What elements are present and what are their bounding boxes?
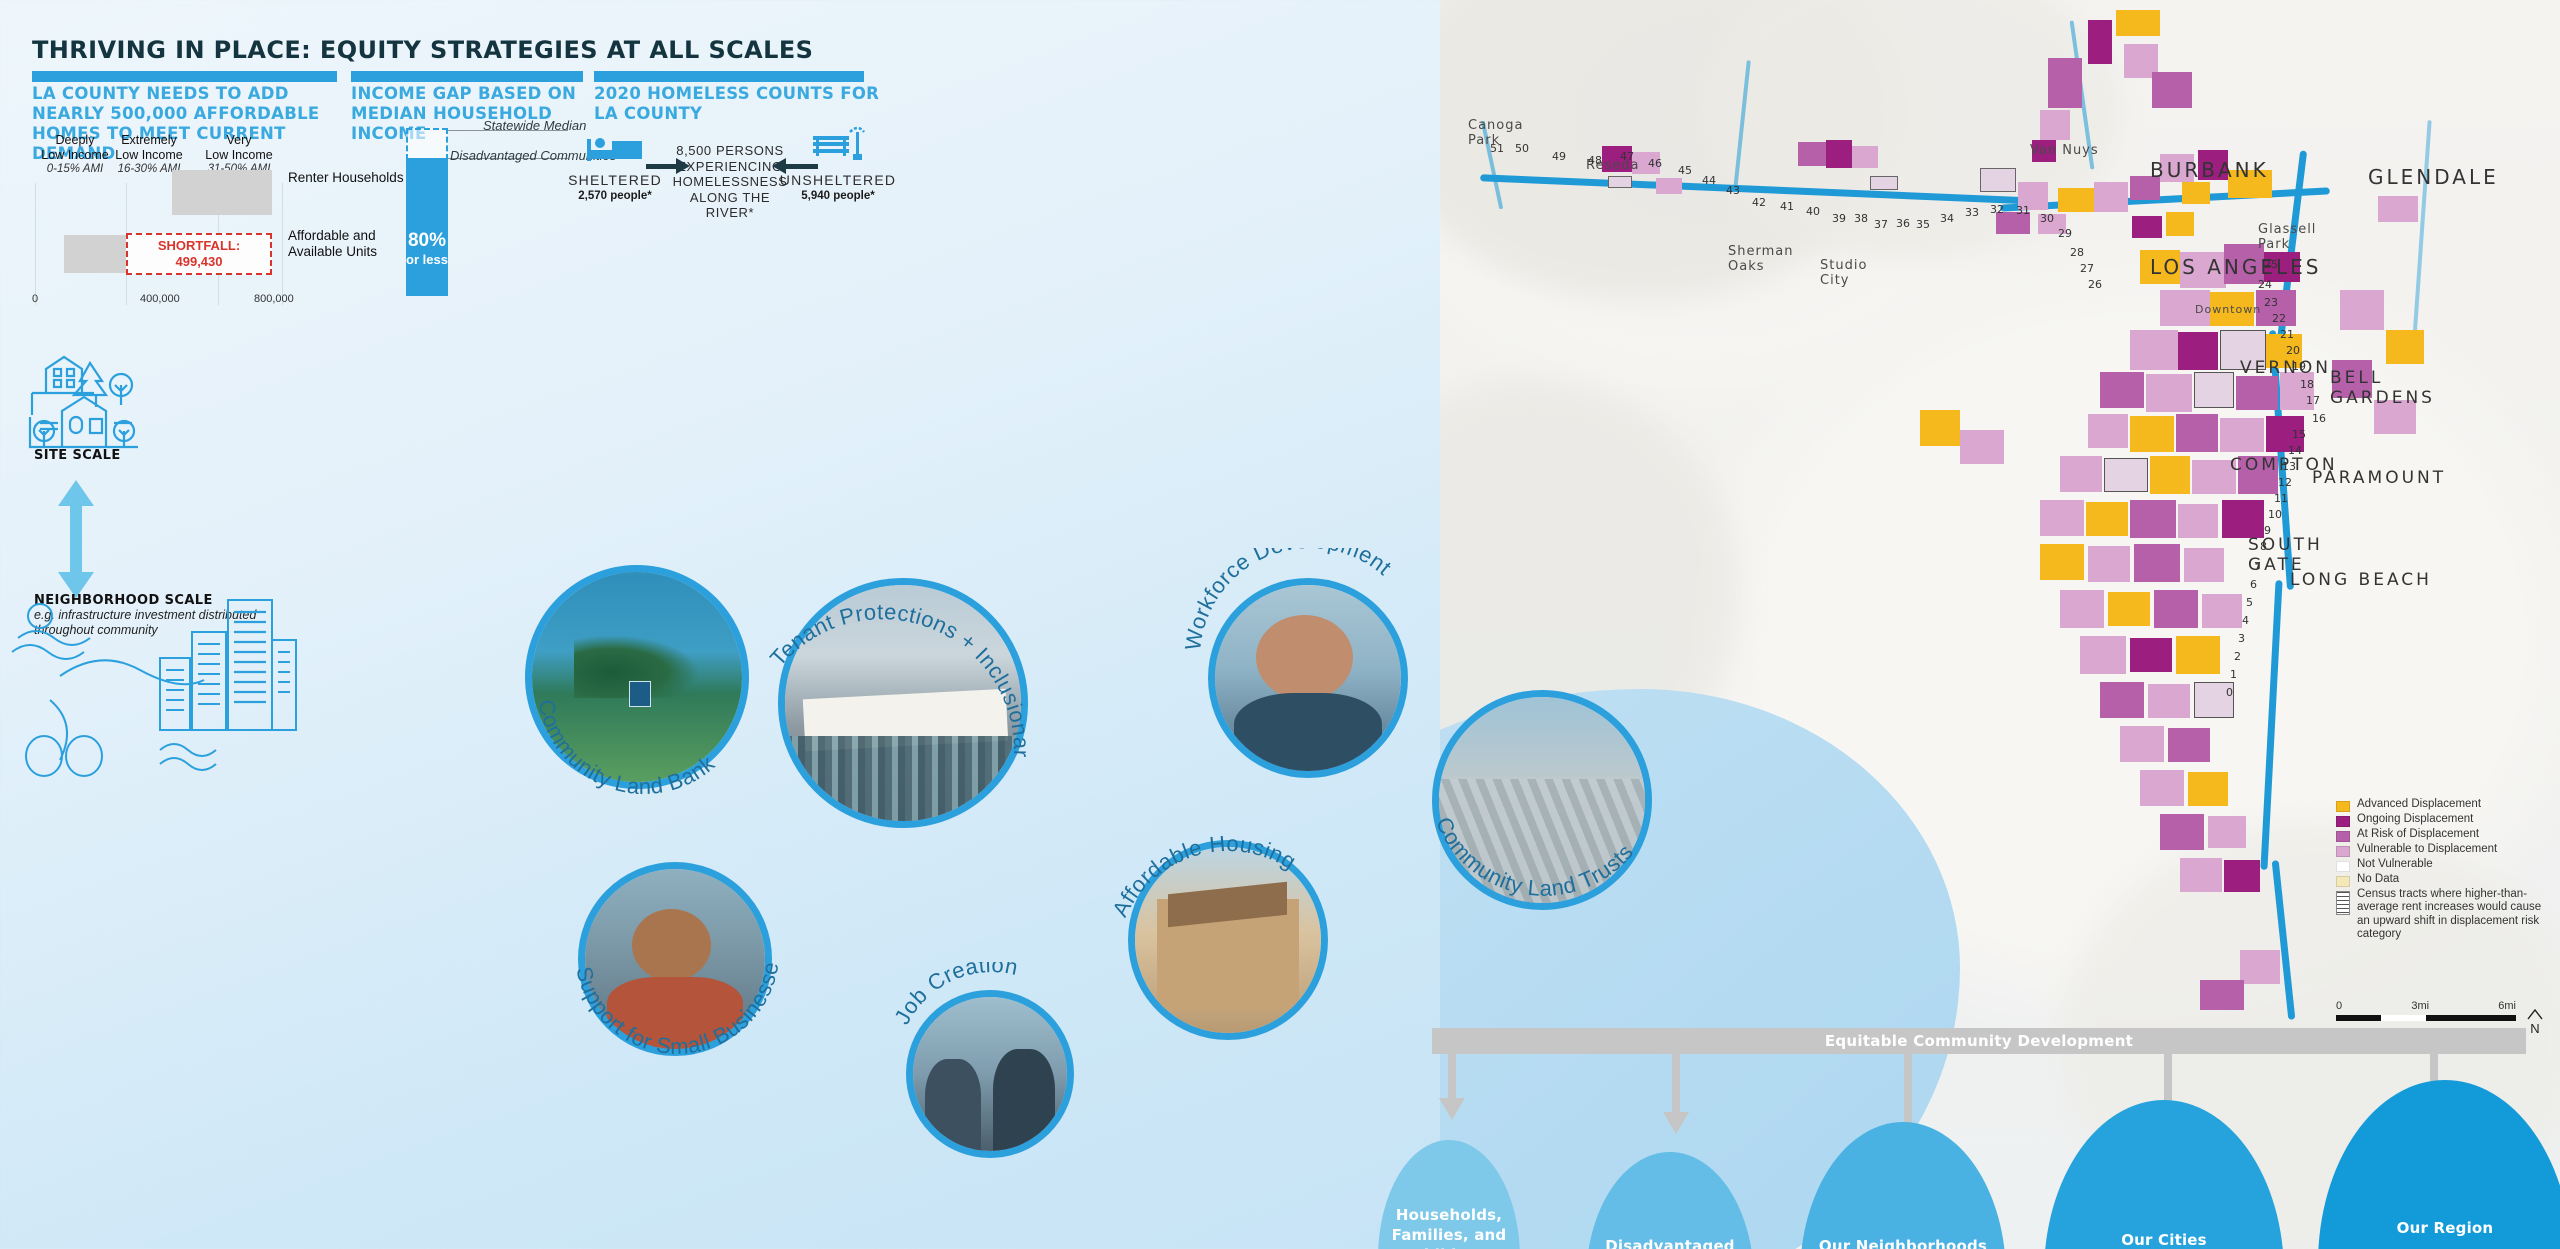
map-mile-marker: 13 xyxy=(2282,460,2296,473)
map-mile-marker: 31 xyxy=(2016,204,2030,217)
legend-item: Advanced Displacement xyxy=(2336,798,2551,812)
panel-heading-homeless: 2020 HOMELESS COUNTS FOR LA COUNTY xyxy=(594,84,894,124)
tract-vulnerable xyxy=(2378,196,2418,222)
panel-rule-income xyxy=(351,71,583,82)
river-tributary xyxy=(2412,120,2431,340)
tract-advanced xyxy=(2150,456,2190,494)
legend-item: Vulnerable to Displacement xyxy=(2336,843,2551,857)
axis-tick-800000: 800,000 xyxy=(254,293,294,305)
photo-crowd xyxy=(785,736,1021,821)
map-mile-marker: 36 xyxy=(1896,217,1910,230)
tract-vulnerable xyxy=(2148,684,2190,718)
scalebar-tick-6mi: 6mi xyxy=(2498,1000,2516,1012)
bar-affordable-available-units xyxy=(64,235,126,273)
funnel-node-label: Our Region xyxy=(2397,1218,2494,1238)
bed-icon xyxy=(586,134,644,164)
map-mile-marker: 11 xyxy=(2274,492,2288,505)
map-mile-marker: 4 xyxy=(2242,614,2249,627)
tract-ongoing xyxy=(2130,638,2172,672)
map-mile-marker: 9 xyxy=(2264,524,2271,537)
legend-item: Ongoing Displacement xyxy=(2336,813,2551,827)
tract-vulnerable xyxy=(2120,726,2164,762)
legend-swatch-ongoing-displacement xyxy=(2336,816,2350,827)
tract-vulnerable xyxy=(2140,770,2184,806)
funnel-node-label: Our Neighborhoods xyxy=(1819,1236,1987,1249)
map-mile-marker: 50 xyxy=(1515,142,1529,155)
map-mile-marker: 2 xyxy=(2234,650,2241,663)
photo-person-b xyxy=(993,1049,1055,1151)
map-mile-marker: 23 xyxy=(2264,296,2278,309)
map-label-studio-city: StudioCity xyxy=(1820,258,1867,288)
axis-tick-0: 0 xyxy=(32,293,38,305)
map-mile-marker: 37 xyxy=(1874,218,1888,231)
tract-atrisk xyxy=(2154,590,2198,628)
housing-shortfall-chart: DeeplyLow Income 0-15% AMI ExtremelyLow … xyxy=(32,125,332,310)
tract-vulnerable xyxy=(2130,330,2178,370)
tract-ongoing xyxy=(2222,500,2264,538)
map-mile-marker: 38 xyxy=(1854,212,1868,225)
tract-atrisk xyxy=(2134,544,2180,582)
legend-item: Not Vulnerable xyxy=(2336,858,2551,872)
map-mile-marker: 0 xyxy=(2226,686,2233,699)
arrow-head-left xyxy=(772,158,786,174)
displacement-map[interactable]: CanogaPark Reseda ShermanOaks StudioCity… xyxy=(1440,0,2560,1249)
map-mile-marker: 30 xyxy=(2040,212,2054,225)
map-mile-marker: 44 xyxy=(1702,174,1716,187)
map-mile-marker: 19 xyxy=(2292,360,2306,373)
income-gap-bar: 80% or less xyxy=(406,158,448,296)
strategy-bubble-job-creation[interactable] xyxy=(906,990,1074,1158)
map-mile-marker: 41 xyxy=(1780,200,1794,213)
map-label-paramount: PARAMOUNT xyxy=(2312,468,2446,488)
north-label: N xyxy=(2527,1021,2543,1036)
tract-advanced xyxy=(2182,182,2210,204)
legend-swatch-no-data xyxy=(2336,876,2350,887)
panel-rule-homeless xyxy=(594,71,864,82)
map-label-downtown: Downtown xyxy=(2195,303,2261,316)
arrow-unsheltered-to-center xyxy=(786,164,818,169)
map-mile-marker: 26 xyxy=(2088,278,2102,291)
axis-tick-400000: 400,000 xyxy=(140,293,180,305)
strategy-bubble-workforce-development[interactable] xyxy=(1208,578,1408,778)
legend-item: No Data xyxy=(2336,873,2551,887)
tract-ongoing xyxy=(2178,332,2218,370)
map-mile-marker: 12 xyxy=(2278,476,2292,489)
tract-advanced xyxy=(2108,592,2150,626)
map-label-van-nuys: Van Nuys xyxy=(2030,143,2099,158)
map-mile-marker: 5 xyxy=(2246,596,2253,609)
tract-vulnerable xyxy=(2240,950,2280,984)
shortfall-callout: SHORTFALL: 499,430 xyxy=(126,233,272,275)
map-label-bell-gardens: BELLGARDENS xyxy=(2330,368,2435,408)
tract-vulnerable xyxy=(2340,290,2384,330)
photo-torso xyxy=(607,977,744,1049)
map-mile-marker: 28 xyxy=(2070,246,2084,259)
legend-swatch-not-vulnerable xyxy=(2336,861,2350,872)
site-scale-icon xyxy=(24,355,144,455)
tract-shift xyxy=(2104,458,2148,492)
page-title: THRIVING IN PLACE: EQUITY STRATEGIES AT … xyxy=(32,36,813,64)
map-mile-marker: 10 xyxy=(2268,508,2282,521)
tract-vulnerable xyxy=(1960,430,2004,464)
series-label-affordable-available-units: Affordable and Available Units xyxy=(288,228,408,260)
funnel-stem xyxy=(1448,1054,1456,1100)
tract-atrisk xyxy=(2168,728,2210,762)
tract-advanced xyxy=(2116,10,2160,36)
legend-label: Ongoing Displacement xyxy=(2357,813,2473,826)
site-scale-label: SITE SCALE xyxy=(34,448,121,463)
map-mile-marker: 45 xyxy=(1678,164,1692,177)
legend-swatch-advanced-displacement xyxy=(2336,801,2350,812)
tract-atrisk xyxy=(2200,980,2244,1010)
tract-shift xyxy=(2194,372,2234,408)
map-mile-marker: 15 xyxy=(2292,428,2306,441)
strategy-bubble-community-land-trusts[interactable] xyxy=(1432,690,1652,910)
homeless-sheltered-label: SHELTERED xyxy=(560,172,670,188)
chart-gridline xyxy=(35,183,36,305)
tract-vulnerable xyxy=(2060,590,2104,628)
tract-vulnerable xyxy=(2180,858,2222,892)
map-label-sherman-oaks: ShermanOaks xyxy=(1728,244,1793,274)
map-label-glassell-park: GlassellPark xyxy=(2258,222,2316,252)
map-mile-marker: 48 xyxy=(1588,154,1602,167)
tract-advanced xyxy=(2166,212,2194,236)
funnel-arrowhead xyxy=(1439,1098,1465,1120)
legend-label: No Data xyxy=(2357,873,2399,886)
map-mile-marker: 43 xyxy=(1726,184,1740,197)
income-gap-percent: 80% xyxy=(408,230,446,252)
tract-vulnerable xyxy=(2088,414,2128,448)
photo-person-a xyxy=(925,1059,980,1151)
income-gap-label-statewide-median: Statewide Median xyxy=(483,118,586,133)
map-mile-marker: 21 xyxy=(2280,328,2294,341)
legend-item: At Risk of Displacement xyxy=(2336,828,2551,842)
legend-swatch-hatched-shift xyxy=(2336,891,2350,915)
strategy-bubble-support-small-businesses[interactable] xyxy=(578,862,772,1056)
tract-ongoing xyxy=(1826,140,1852,168)
map-mile-marker: 49 xyxy=(1552,150,1566,163)
tract-shift xyxy=(1608,176,1632,188)
tract-advanced xyxy=(2176,636,2220,674)
strategy-bubble-affordable-housing[interactable] xyxy=(1128,840,1328,1040)
shortfall-value: 499,430 xyxy=(176,254,223,270)
tract-advanced xyxy=(2130,416,2174,452)
shortfall-label: SHORTFALL: xyxy=(158,238,240,254)
photo-aerial-grid xyxy=(1439,779,1645,903)
map-label-los-angeles: LOS ANGELES xyxy=(2150,255,2321,279)
funnel-header-bar: Equitable Community Development xyxy=(1432,1028,2526,1054)
map-mile-marker: 42 xyxy=(1752,196,1766,209)
map-mile-marker: 3 xyxy=(2238,632,2245,645)
tract-advanced xyxy=(2386,330,2424,364)
funnel-header-label: Equitable Community Development xyxy=(1825,1032,2133,1050)
panel-heading-income: INCOME GAP BASED ON MEDIAN HOUSEHOLD INC… xyxy=(351,84,583,144)
tract-atrisk xyxy=(2160,814,2204,850)
homeless-center-text: 8,500 PERSONS EXPERIENCING HOMELESSNESS … xyxy=(660,143,800,221)
legend-item-note: Census tracts where higher-than-average … xyxy=(2336,888,2551,942)
map-label-glendale: GLENDALE xyxy=(2368,165,2499,189)
tract-vulnerable xyxy=(2040,110,2070,140)
scalebar-tick-0: 0 xyxy=(2336,1000,2342,1012)
map-mile-marker: 29 xyxy=(2058,227,2072,240)
tract-atrisk xyxy=(2100,372,2144,408)
map-mile-marker: 20 xyxy=(2286,344,2300,357)
panel-rule-housing xyxy=(32,71,337,82)
tract-atrisk xyxy=(1798,142,1826,166)
tract-vulnerable xyxy=(2220,418,2264,452)
tract-atrisk xyxy=(2048,58,2082,108)
tract-advanced xyxy=(1920,410,1960,446)
tract-vulnerable xyxy=(2208,816,2246,848)
chart-gridline xyxy=(282,183,283,305)
tract-vulnerable xyxy=(2184,548,2224,582)
map-legend: Advanced Displacement Ongoing Displaceme… xyxy=(2336,798,2551,942)
map-label-vernon: VERNON xyxy=(2240,358,2331,378)
tract-vulnerable xyxy=(1852,146,1878,168)
map-mile-marker: 34 xyxy=(1940,212,1954,225)
tract-atrisk xyxy=(2152,72,2192,108)
tract-shift xyxy=(1980,168,2016,192)
bar-renter-households xyxy=(172,170,272,215)
legend-label: Advanced Displacement xyxy=(2357,798,2481,811)
photo-face xyxy=(1256,615,1353,701)
tract-vulnerable xyxy=(2080,636,2126,674)
arrow-sheltered-to-center xyxy=(646,164,678,169)
legend-label: Not Vulnerable xyxy=(2357,858,2433,871)
map-mile-marker: 7 xyxy=(2254,560,2261,573)
map-mile-marker: 40 xyxy=(1806,205,1820,218)
funnel-node-label: Disadvantaged Communities xyxy=(1605,1236,1735,1249)
map-mile-marker: 46 xyxy=(1648,157,1662,170)
map-mile-marker: 35 xyxy=(1916,218,1930,231)
tract-advanced xyxy=(2040,544,2084,580)
map-label-long-beach: LONG BEACH xyxy=(2290,570,2432,590)
map-mile-marker: 18 xyxy=(2300,378,2314,391)
legend-swatch-at-risk-of-displacement xyxy=(2336,831,2350,842)
tract-atrisk xyxy=(2236,376,2278,410)
map-mile-marker: 17 xyxy=(2306,394,2320,407)
tract-advanced xyxy=(2188,772,2228,806)
north-chevron-icon xyxy=(2527,1009,2543,1020)
neighborhood-scale-icon xyxy=(10,580,300,780)
photo-sign xyxy=(629,681,651,707)
tract-atrisk xyxy=(2100,682,2144,718)
tract-vulnerable xyxy=(2040,500,2084,536)
map-mile-marker: 47 xyxy=(1620,150,1634,163)
tract-atrisk xyxy=(2176,414,2218,452)
photo-torso xyxy=(1234,693,1383,771)
tract-vulnerable xyxy=(2146,374,2192,412)
map-mile-marker: 16 xyxy=(2312,412,2326,425)
tract-atrisk xyxy=(2130,500,2176,538)
legend-swatch-vulnerable-to-displacement xyxy=(2336,846,2350,857)
funnel-node-label: Households, Families, and Children xyxy=(1392,1205,1507,1249)
map-mile-marker: 27 xyxy=(2080,262,2094,275)
tract-advanced xyxy=(2086,502,2128,536)
tract-advanced xyxy=(2058,188,2094,212)
tract-vulnerable xyxy=(2088,546,2130,582)
map-mile-marker: 22 xyxy=(2272,312,2286,325)
map-label-burbank: BURBANK xyxy=(2150,158,2269,182)
tract-vulnerable xyxy=(2060,456,2102,492)
series-label-renter-households: Renter Households xyxy=(288,170,408,186)
tract-vulnerable xyxy=(2094,182,2128,212)
strategy-bubble-community-land-bank[interactable] xyxy=(525,565,749,789)
funnel-node-label: Our Cities xyxy=(2121,1230,2207,1249)
strategy-bubble-tenant-protections[interactable] xyxy=(778,578,1028,828)
funnel-arrowhead xyxy=(1663,1112,1689,1134)
map-mile-marker: 51 xyxy=(1490,142,1504,155)
legend-note-label: Census tracts where higher-than-average … xyxy=(2357,888,2547,942)
infographic-root: CanogaPark Reseda ShermanOaks StudioCity… xyxy=(0,0,2560,1249)
photo-face xyxy=(632,909,711,981)
income-gap-percent-sub: or less xyxy=(406,252,448,267)
tract-vulnerable xyxy=(2202,594,2242,628)
map-mile-marker: 33 xyxy=(1965,206,1979,219)
tract-ongoing xyxy=(2088,20,2112,64)
tract-shift xyxy=(1870,176,1898,190)
legend-label: At Risk of Displacement xyxy=(2357,828,2479,841)
map-mile-marker: 32 xyxy=(1990,203,2004,216)
arrow-head-right xyxy=(676,158,690,174)
north-arrow: N xyxy=(2527,1008,2543,1036)
map-mile-marker: 1 xyxy=(2230,668,2237,681)
scalebar-tick-3mi: 3mi xyxy=(2411,1000,2429,1012)
map-mile-marker: 25 xyxy=(2264,258,2278,271)
map-scalebar: 0 3mi 6mi xyxy=(2336,1000,2516,1021)
tract-vulnerable xyxy=(2178,504,2218,538)
homeless-sheltered-count: 2,570 people* xyxy=(560,190,670,202)
bench-lamp-icon xyxy=(812,124,872,168)
tract-vulnerable xyxy=(1656,178,1682,194)
tract-ongoing xyxy=(2224,860,2260,892)
map-mile-marker: 8 xyxy=(2260,540,2267,553)
map-mile-marker: 14 xyxy=(2288,444,2302,457)
map-mile-marker: 6 xyxy=(2250,578,2257,591)
tract-ongoing xyxy=(2132,216,2162,238)
map-mile-marker: 39 xyxy=(1832,212,1846,225)
map-mile-marker: 24 xyxy=(2258,278,2272,291)
funnel-stem xyxy=(1672,1054,1680,1114)
income-gap-outline xyxy=(406,128,448,160)
legend-label: Vulnerable to Displacement xyxy=(2357,843,2497,856)
